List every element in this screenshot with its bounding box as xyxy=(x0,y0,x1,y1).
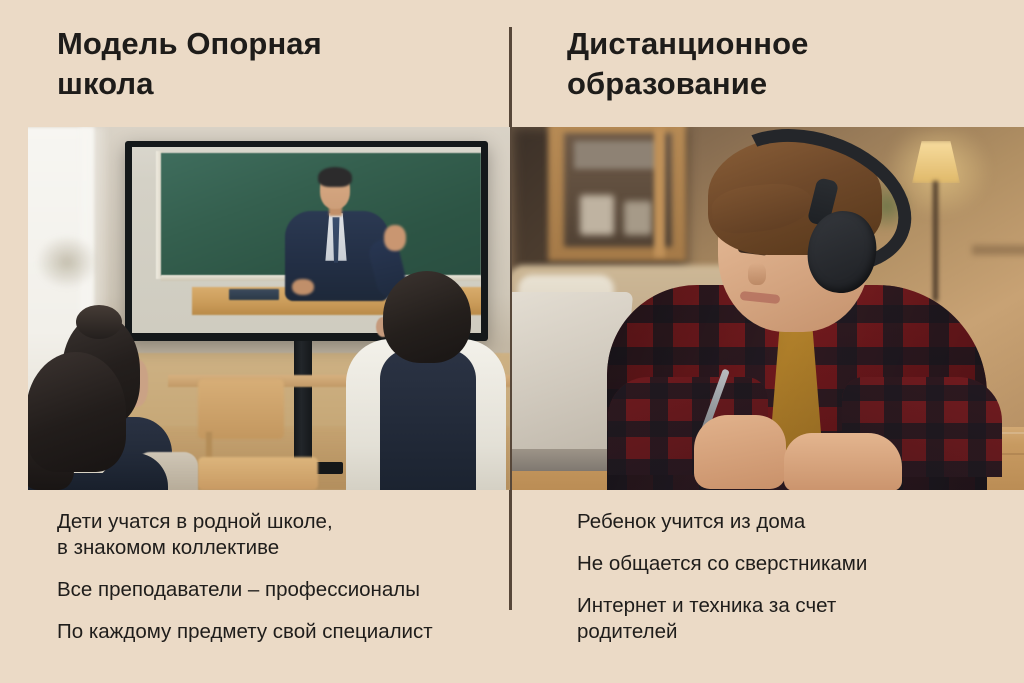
column-title-support-school: Модель Опорная школа xyxy=(57,24,487,104)
wall-decor-blur xyxy=(36,235,98,289)
bullet-item: Не общается со сверстниками xyxy=(577,551,997,577)
teacher-resting-hand xyxy=(292,279,314,295)
teacher-hair xyxy=(318,167,352,187)
student-boy-vest xyxy=(380,349,476,490)
bullet-item: Дети учатся в родной школе, в знакомом к… xyxy=(57,509,527,561)
student-boy-hair xyxy=(383,271,471,363)
photo-classroom xyxy=(28,127,510,490)
bullet-item: Все преподаватели – профессионалы xyxy=(57,577,527,603)
bullet-item: Интернет и техника за счет родителей xyxy=(577,593,997,645)
wall-ledge xyxy=(972,245,1024,255)
shelf-item-left xyxy=(580,195,614,235)
boy-nose xyxy=(748,263,766,285)
column-title-distance-education: Дистанционное образование xyxy=(567,24,997,104)
shelf-item-top xyxy=(574,141,660,169)
home-scene xyxy=(512,127,1024,490)
display-stand xyxy=(294,341,312,466)
bullet-item: Ребенок учится из дома xyxy=(577,509,997,535)
student-girl-back-bun xyxy=(76,305,122,339)
floor-lamp-pole xyxy=(933,181,938,301)
shelf-item-right xyxy=(624,201,652,235)
bullet-list-support-school: Дети учатся в родной школе, в знакомом к… xyxy=(57,509,527,645)
comparison-poster: Модель Опорная школа Дистанционное образ… xyxy=(0,0,1024,683)
student-girl-front-hair xyxy=(28,352,126,472)
classroom-chair-back xyxy=(198,379,284,439)
desk-book xyxy=(229,289,279,300)
photo-home-learning xyxy=(512,127,1024,490)
bullet-item: По каждому предмету свой специалист xyxy=(57,619,527,645)
boy-resting-hand xyxy=(784,433,902,490)
boy-writing-hand xyxy=(694,415,786,489)
classroom-chair-mid xyxy=(198,457,318,490)
bullet-list-distance-education: Ребенок учится из дома Не общается со св… xyxy=(577,509,997,645)
bookshelf-divider xyxy=(654,127,665,257)
classroom-scene xyxy=(28,127,510,490)
teacher-gesturing-hand xyxy=(384,225,406,251)
